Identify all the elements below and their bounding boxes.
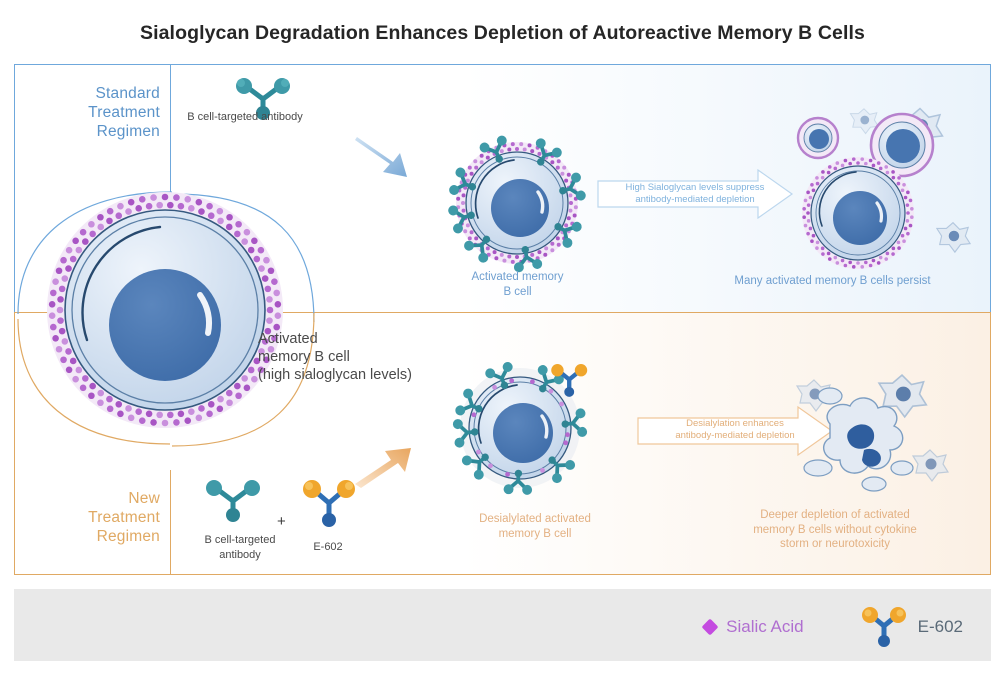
- page-title: Sialoglycan Degradation Enhances Depleti…: [0, 22, 1005, 45]
- sialic-acid-icon: [702, 619, 719, 636]
- activated-memory-b-cell-top: [432, 138, 602, 268]
- regimen-line-3: Regimen: [20, 122, 160, 141]
- regimen-line-1: Standard: [20, 84, 160, 103]
- regimen-line-3: Regimen: [20, 527, 160, 546]
- depleted-cell-debris-group: [790, 372, 965, 507]
- separator-top: [170, 65, 171, 193]
- caption-activated-memory-b-cell: Activated memoryB cell: [430, 270, 605, 299]
- desialylated-memory-b-cell: [432, 350, 617, 500]
- persisting-cells-group: [790, 108, 985, 273]
- regimen-line-2: Treatment: [20, 508, 160, 527]
- legend-bar: Sialic Acid E-602: [14, 589, 991, 661]
- central-activated-memory-b-cell: [40, 185, 290, 435]
- regimen-line-1: New: [20, 489, 160, 508]
- arrow-treatment-top: [355, 133, 425, 185]
- caption-cells-persist: Many activated memory B cells persist: [700, 274, 965, 289]
- legend-item-e602: E-602: [860, 607, 963, 647]
- e602-icon-panel: [298, 478, 360, 526]
- e602-icon-legend: [860, 607, 908, 647]
- caption-e602-panel: E-602: [290, 540, 366, 555]
- infographic-canvas: Sialoglycan Degradation Enhances Depleti…: [0, 0, 1005, 675]
- antibody-icon-bottom: [200, 478, 266, 522]
- note-suppressed-depletion: High Sialoglycan levels suppressantibody…: [605, 182, 785, 206]
- caption-desialylated-cell: Desialylated activatedmemory B cell: [440, 512, 630, 541]
- label-standard-treatment-regimen: Standard Treatment Regimen: [20, 84, 160, 141]
- legend-item-sialic-acid: Sialic Acid: [704, 617, 803, 637]
- plus-sign: +: [277, 513, 286, 530]
- caption-antibody-top: B cell-targeted antibody: [150, 110, 340, 125]
- label-new-treatment-regimen: New Treatment Regimen: [20, 489, 160, 546]
- caption-central-cell: Activatedmemory B cell(high sialoglycan …: [258, 330, 443, 384]
- legend-label-sialic-acid: Sialic Acid: [726, 617, 803, 637]
- arrow-treatment-bottom: [355, 440, 430, 490]
- caption-deeper-depletion: Deeper depletion of activated memory B c…: [690, 508, 980, 552]
- regimen-line-2: Treatment: [20, 103, 160, 122]
- legend-label-e602: E-602: [918, 617, 963, 637]
